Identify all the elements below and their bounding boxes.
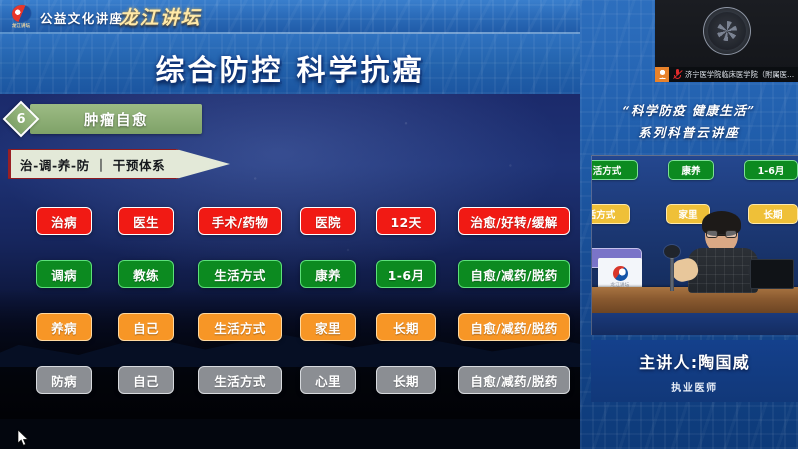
series-headline: “科学防疫 健康生活” 系列科普云讲座 bbox=[580, 100, 798, 141]
matrix-cell: 生活方式 bbox=[198, 313, 282, 341]
shared-slide: 6 肿瘤自愈 治-调-养-防 ｜ 干预体系 治病 医生 手术/药物 医院 12天… bbox=[0, 94, 580, 419]
university-seal-icon bbox=[703, 7, 751, 55]
slide-section-header: 6 肿瘤自愈 bbox=[6, 104, 202, 134]
banner-subtitle: 公益文化讲座 bbox=[40, 8, 123, 27]
matrix-cell: 自愈/减药/脱药 bbox=[458, 313, 570, 341]
speaker-figure bbox=[688, 215, 758, 291]
table-row: 调病 教练 生活方式 康养 1-6月 自愈/减药/脱药 bbox=[18, 252, 566, 305]
matrix-cell: 自己 bbox=[118, 313, 174, 341]
table-row: 防病 自己 生活方式 心里 长期 自愈/减药/脱药 bbox=[18, 358, 566, 411]
matrix-cell: 自愈/减药/脱药 bbox=[458, 366, 570, 394]
matrix-cell: 防病 bbox=[36, 366, 92, 394]
projected-pill: 康养 bbox=[668, 160, 714, 180]
logo-swirl-icon bbox=[10, 3, 32, 24]
microphone-muted-icon[interactable] bbox=[673, 69, 682, 80]
avatar bbox=[655, 67, 669, 82]
series-headline-line2: 系列科普云讲座 bbox=[580, 122, 798, 141]
mouse-cursor bbox=[18, 430, 29, 446]
matrix-cell: 医生 bbox=[118, 207, 174, 235]
matrix-cell: 治病 bbox=[36, 207, 92, 235]
matrix-cell: 调病 bbox=[36, 260, 92, 288]
slide-bottom-letterbox bbox=[0, 419, 580, 449]
speaker-role: 执业医师 bbox=[671, 379, 717, 394]
system-arrow-banner: 治-调-养-防 ｜ 干预体系 bbox=[8, 149, 230, 179]
projected-pill: 活方式 bbox=[591, 160, 638, 180]
speaker-name: 主讲人:陶国威 bbox=[639, 349, 750, 373]
participant-name: 济宁医学院临床医学院（附属医… bbox=[685, 70, 796, 80]
microphone-stand-icon bbox=[670, 255, 674, 291]
banner-main-title: 龙江讲坛 bbox=[119, 3, 201, 30]
matrix-cell: 心里 bbox=[300, 366, 356, 394]
matrix-cell: 养病 bbox=[36, 313, 92, 341]
matrix-cell: 1-6月 bbox=[376, 260, 436, 288]
table-row: 养病 自己 生活方式 家里 长期 自愈/减药/脱药 bbox=[18, 305, 566, 358]
participant-name-bar: 济宁医学院临床医学院（附属医… bbox=[655, 67, 798, 82]
podium-front-panel bbox=[592, 313, 798, 335]
matrix-cell: 家里 bbox=[300, 313, 356, 341]
organization-logo: 龙江讲坛 bbox=[6, 4, 36, 30]
glasses-icon bbox=[706, 230, 737, 238]
projected-row-green: 活方式 康养 1-6月 bbox=[592, 160, 798, 182]
projected-pill: 1-6月 bbox=[744, 160, 798, 180]
matrix-cell: 医院 bbox=[300, 207, 356, 235]
matrix-cell: 长期 bbox=[376, 366, 436, 394]
matrix-cell: 治愈/好转/缓解 bbox=[458, 207, 570, 235]
projected-pill: 活方式 bbox=[591, 204, 630, 224]
matrix-cell: 自愈/减药/脱药 bbox=[458, 260, 570, 288]
matrix-cell: 长期 bbox=[376, 313, 436, 341]
speaker-info-block: 主讲人:陶国威 执业医师 bbox=[591, 340, 798, 402]
webinar-screen: 龙江讲坛 公益文化讲座 龙江讲坛 综合防控 科学抗癌 6 肿瘤自愈 治-调-养-… bbox=[0, 0, 798, 449]
system-label: 治-调-养-防 ｜ 干预体系 bbox=[20, 149, 165, 179]
logo-caption: 龙江讲坛 bbox=[12, 23, 30, 29]
matrix-cell: 生活方式 bbox=[198, 366, 282, 394]
participant-video-tile[interactable]: 济宁医学院临床医学院（附属医… bbox=[655, 0, 798, 82]
matrix-cell: 教练 bbox=[118, 260, 174, 288]
matrix-cell: 自己 bbox=[118, 366, 174, 394]
intervention-matrix: 治病 医生 手术/药物 医院 12天 治愈/好转/缓解 调病 教练 生活方式 康… bbox=[18, 199, 566, 411]
matrix-cell: 12天 bbox=[376, 207, 436, 235]
logo-swirl-icon bbox=[613, 266, 628, 281]
speaker-video-feed[interactable]: 活方式 康养 1-6月 活方式 家里 长期 龙江讲坛 bbox=[591, 155, 798, 335]
page-title: 综合防控 科学抗癌 bbox=[0, 47, 580, 89]
person-icon bbox=[658, 70, 667, 79]
matrix-cell: 手术/药物 bbox=[198, 207, 282, 235]
laptop bbox=[750, 259, 794, 289]
section-title: 肿瘤自愈 bbox=[30, 104, 202, 134]
table-row: 治病 医生 手术/药物 医院 12天 治愈/好转/缓解 bbox=[18, 199, 566, 252]
matrix-cell: 生活方式 bbox=[198, 260, 282, 288]
series-headline-line1: “科学防疫 健康生活” bbox=[580, 100, 798, 119]
matrix-cell: 康养 bbox=[300, 260, 356, 288]
right-side-panel: 济宁医学院临床医学院（附属医… “科学防疫 健康生活” 系列科普云讲座 活方式 … bbox=[580, 0, 798, 449]
